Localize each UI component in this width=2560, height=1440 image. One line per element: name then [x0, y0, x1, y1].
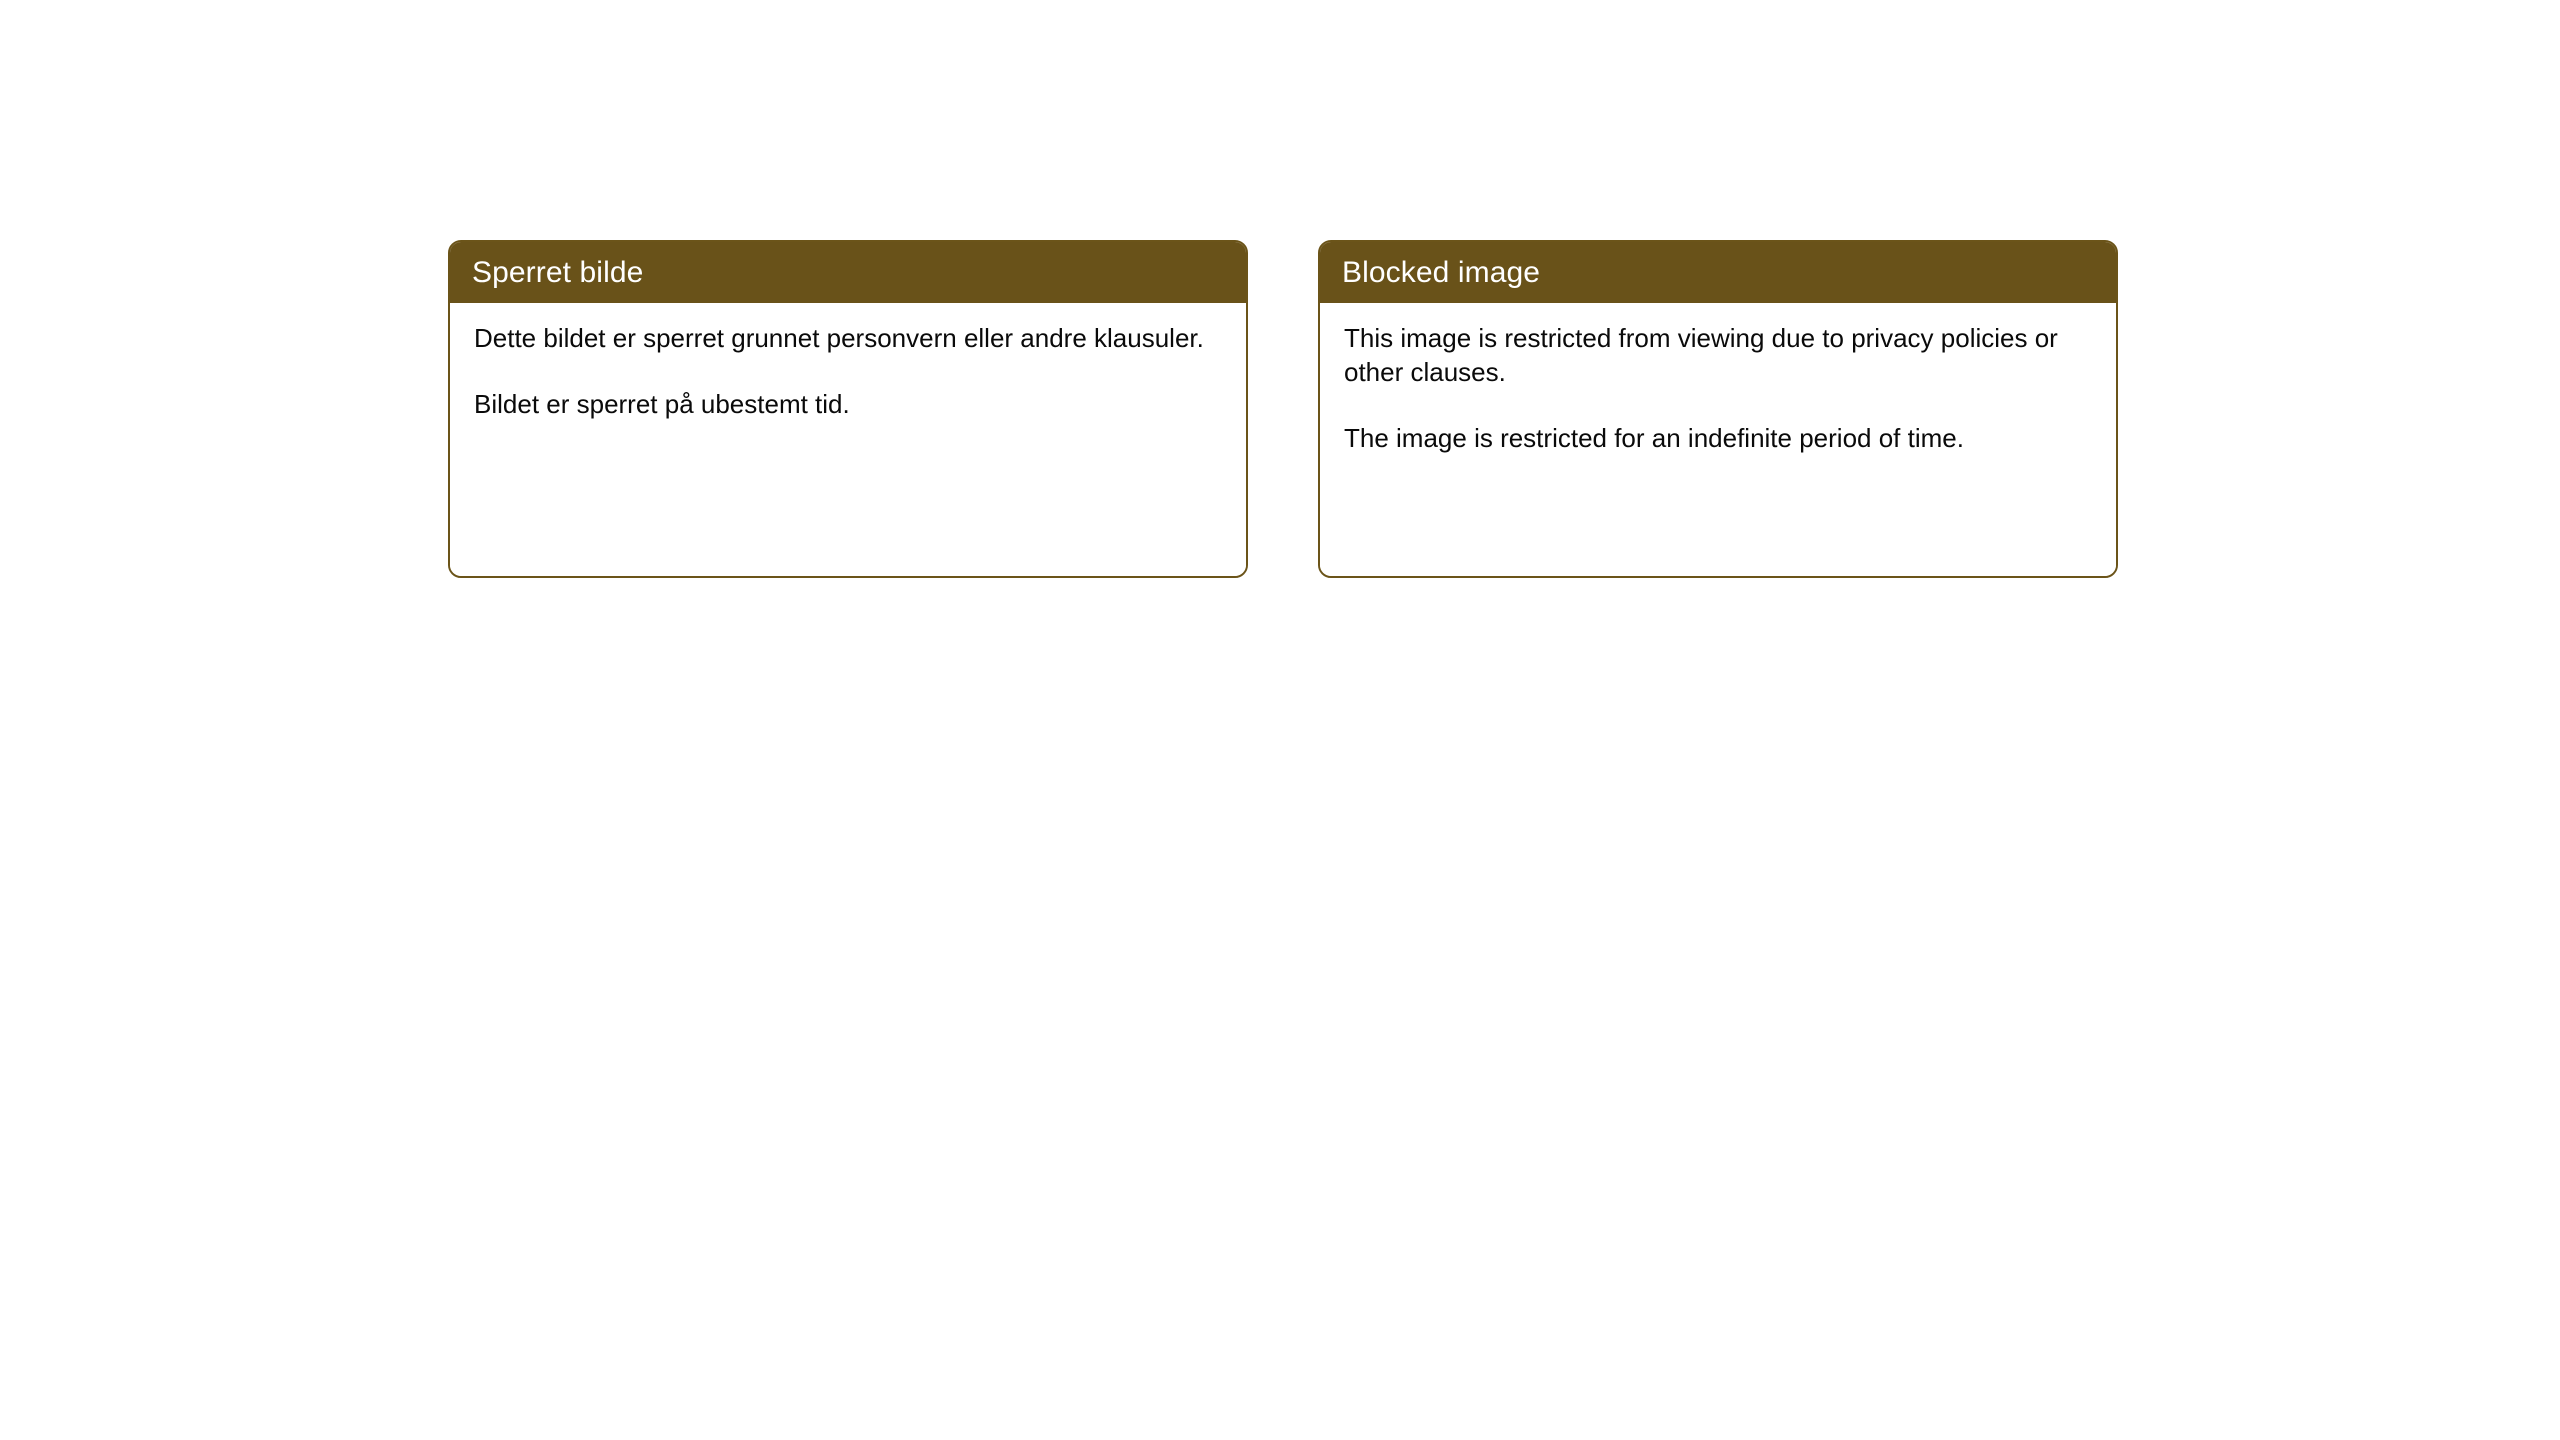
card-paragraph-restriction-reason-norwegian: Dette bildet er sperret grunnet personve… — [474, 321, 1220, 355]
card-paragraph-restriction-duration-english: The image is restricted for an indefinit… — [1344, 421, 2090, 455]
card-paragraph-restriction-duration-norwegian: Bildet er sperret på ubestemt tid. — [474, 387, 1220, 421]
card-body-english: This image is restricted from viewing du… — [1320, 303, 2116, 576]
card-title-english: Blocked image — [1342, 256, 1540, 290]
blocked-image-card-norwegian: Sperret bilde Dette bildet er sperret gr… — [448, 240, 1248, 578]
card-title-norwegian: Sperret bilde — [472, 256, 643, 290]
card-header-english: Blocked image — [1320, 242, 2116, 303]
page-root: Sperret bilde Dette bildet er sperret gr… — [0, 0, 2560, 1440]
card-header-norwegian: Sperret bilde — [450, 242, 1246, 303]
card-body-norwegian: Dette bildet er sperret grunnet personve… — [450, 303, 1246, 576]
blocked-image-notice-group: Sperret bilde Dette bildet er sperret gr… — [448, 240, 2118, 578]
blocked-image-card-english: Blocked image This image is restricted f… — [1318, 240, 2118, 578]
card-paragraph-restriction-reason-english: This image is restricted from viewing du… — [1344, 321, 2090, 389]
